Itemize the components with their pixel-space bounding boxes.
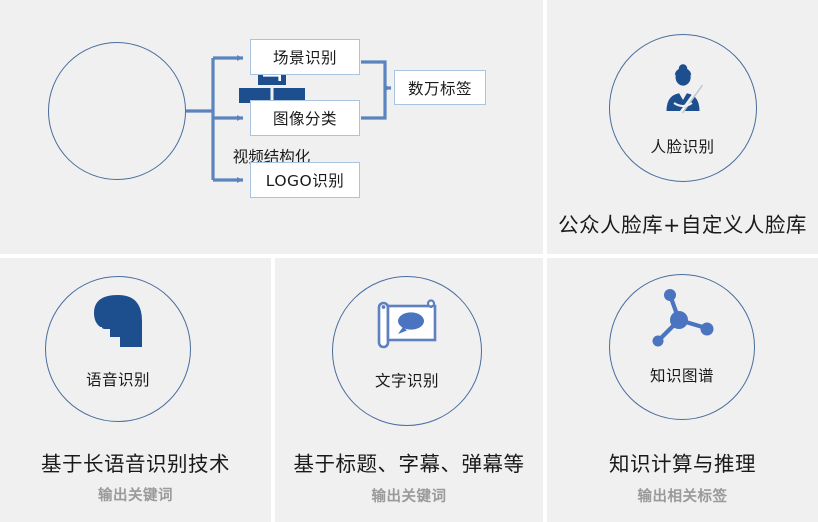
knowledge-graph-icon-svg xyxy=(646,286,718,352)
banner-speech-bubble-icon-svg xyxy=(375,297,439,351)
subcaption-text-recognition: 输出关键词 xyxy=(275,485,543,506)
knowledge-graph-icon xyxy=(609,286,755,352)
flow-box-logo[interactable]: LOGO识别 xyxy=(250,162,360,198)
face-recognition-icon-svg xyxy=(654,59,712,117)
badge-label-speech-recognition: 语音识别 xyxy=(45,368,191,390)
panel-video-structuring: 视频结构化 xyxy=(0,0,543,254)
badge-label-face-recognition: 人脸识别 xyxy=(547,135,818,157)
caption-text-recognition: 基于标题、字幕、弹幕等 xyxy=(275,447,543,477)
speech-head-icon xyxy=(45,292,191,352)
badge-label-text-recognition: 文字识别 xyxy=(332,369,482,391)
flow-box-scene-label: 场景识别 xyxy=(273,46,337,68)
panel-knowledge-graph: 知识图谱 知识计算与推理 输出相关标签 xyxy=(547,258,818,522)
flow-box-tags[interactable]: 数万标签 xyxy=(394,70,486,105)
caption-knowledge-graph: 知识计算与推理 xyxy=(547,447,818,477)
caption-speech-recognition: 基于长语音识别技术 xyxy=(0,447,271,477)
flow-box-image-label: 图像分类 xyxy=(273,107,337,129)
banner-speech-bubble-icon xyxy=(332,296,482,352)
capability-overview-board: 视频结构化 xyxy=(0,0,818,522)
subcaption-speech-recognition: 输出关键词 xyxy=(0,484,271,505)
badge-label-knowledge-graph: 知识图谱 xyxy=(609,364,755,386)
flow-box-tags-label: 数万标签 xyxy=(408,77,472,99)
panel-text-recognition: 文字识别 基于标题、字幕、弹幕等 输出关键词 xyxy=(275,258,543,522)
panel-speech-recognition: 语音识别 基于长语音识别技术 输出关键词 xyxy=(0,258,271,522)
subcaption-knowledge-graph: 输出相关标签 xyxy=(547,485,818,506)
flow-box-image[interactable]: 图像分类 xyxy=(250,100,360,136)
speech-head-icon-svg xyxy=(90,293,146,351)
face-recognition-icon xyxy=(547,60,818,116)
panel-face-recognition: 人脸识别 公众人脸库+自定义人脸库 xyxy=(547,0,818,254)
caption-face-recognition: 公众人脸库+自定义人脸库 xyxy=(547,208,818,238)
flow-box-logo-label: LOGO识别 xyxy=(266,169,345,191)
flow-box-scene[interactable]: 场景识别 xyxy=(250,39,360,75)
